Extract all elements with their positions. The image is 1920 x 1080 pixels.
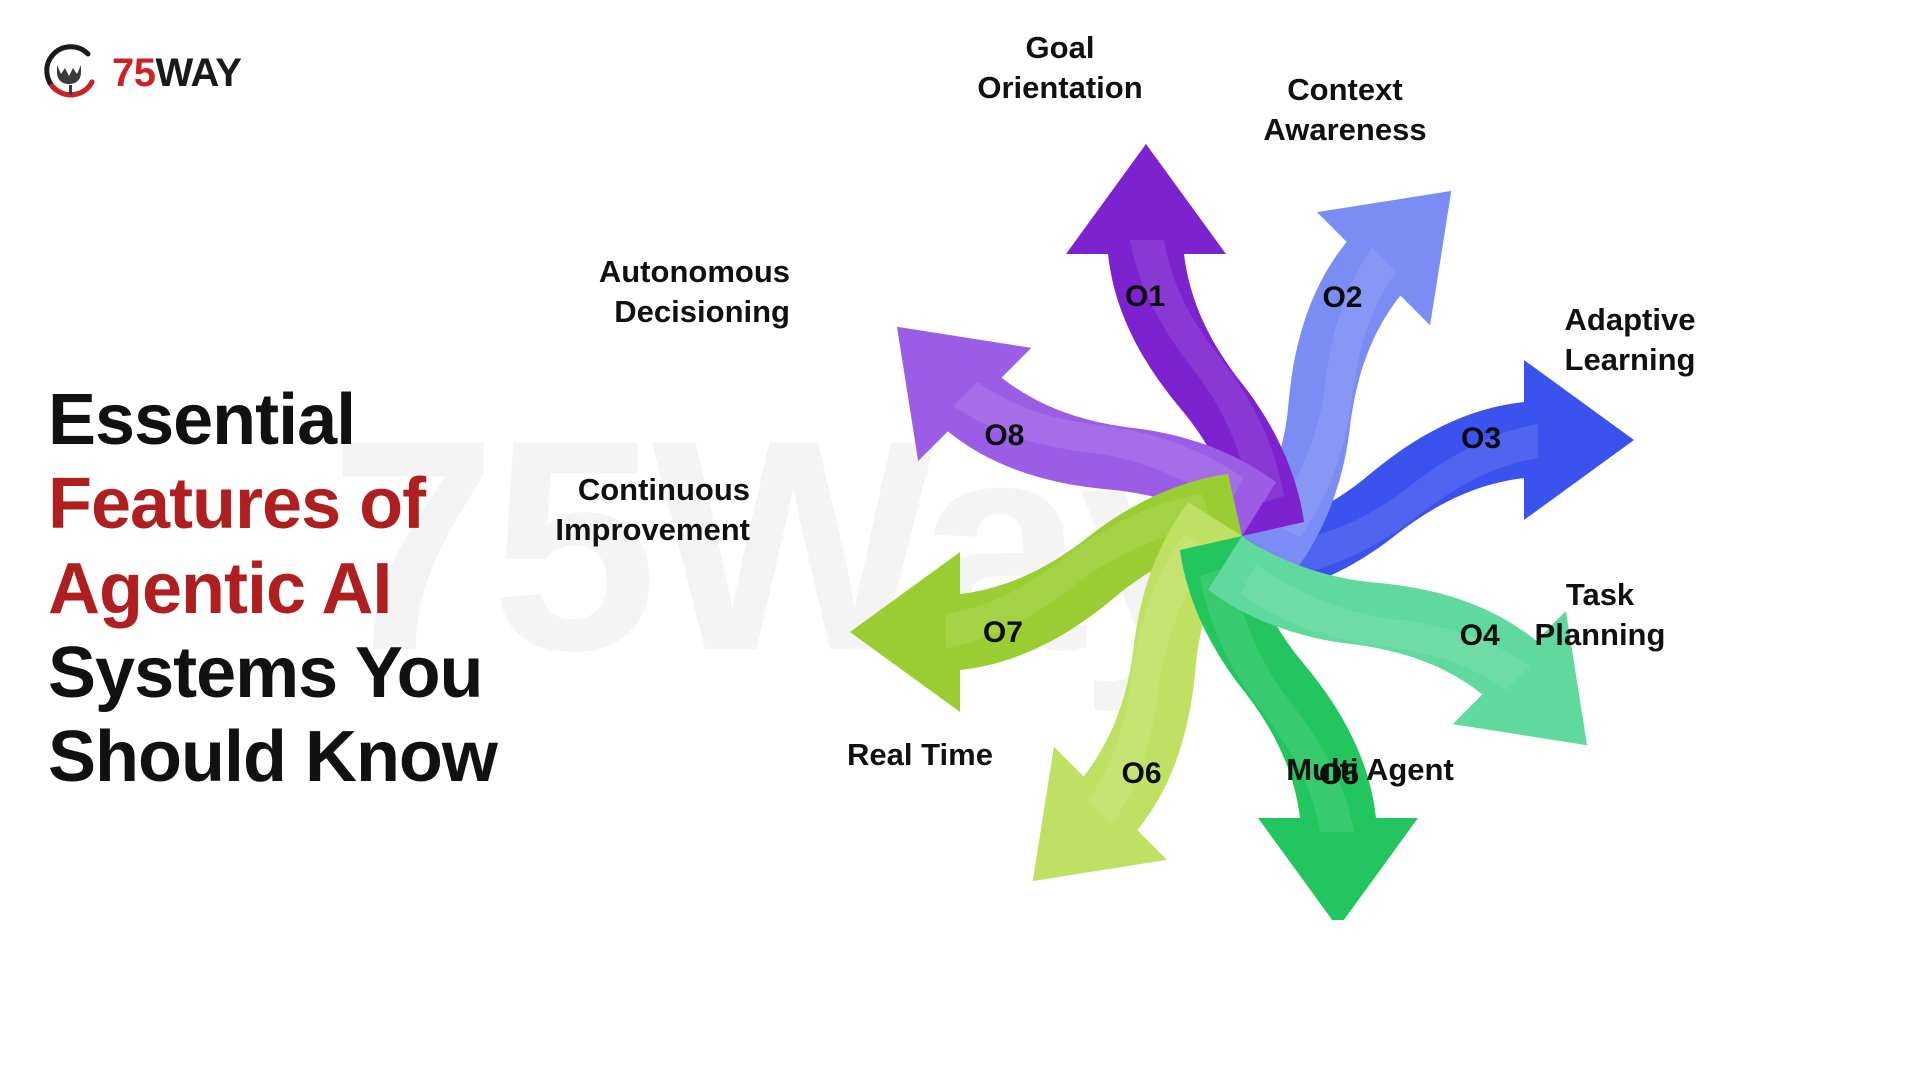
feature-caption-o6: Multi Agent [1210, 750, 1530, 790]
brand-wordmark-number: 75 [112, 51, 156, 95]
75way-bull-mark-icon [40, 42, 102, 104]
brand-wordmark: 75WAY [112, 53, 241, 93]
arrow-index-o8: O8 [984, 419, 1024, 453]
arrow-index-o7: O7 [983, 616, 1023, 650]
feature-caption-o8: Continuous Improvement [450, 470, 750, 551]
feature-caption-o5: Task Planning [1470, 575, 1730, 656]
arrow-index-o1: O1 [1125, 280, 1165, 314]
feature-caption-o2: Goal Orientation [910, 28, 1210, 109]
brand-wordmark-word: WAY [156, 51, 242, 95]
arrow-index-o3: O3 [1461, 422, 1501, 456]
feature-caption-o4: Adaptive Learning [1480, 300, 1780, 381]
brand-logo: 75WAY [40, 42, 241, 104]
feature-caption-o1: Autonomous Decisioning [490, 252, 790, 333]
arrow-index-o2: O2 [1322, 281, 1362, 315]
arrow-index-o6: O6 [1122, 757, 1162, 791]
feature-caption-o3: Context Awareness [1195, 70, 1495, 151]
pinwheel-arrow-diagram: O1O2O3O4O5O6O7O8 [560, 120, 1920, 920]
feature-caption-o7: Real Time [760, 735, 1080, 775]
